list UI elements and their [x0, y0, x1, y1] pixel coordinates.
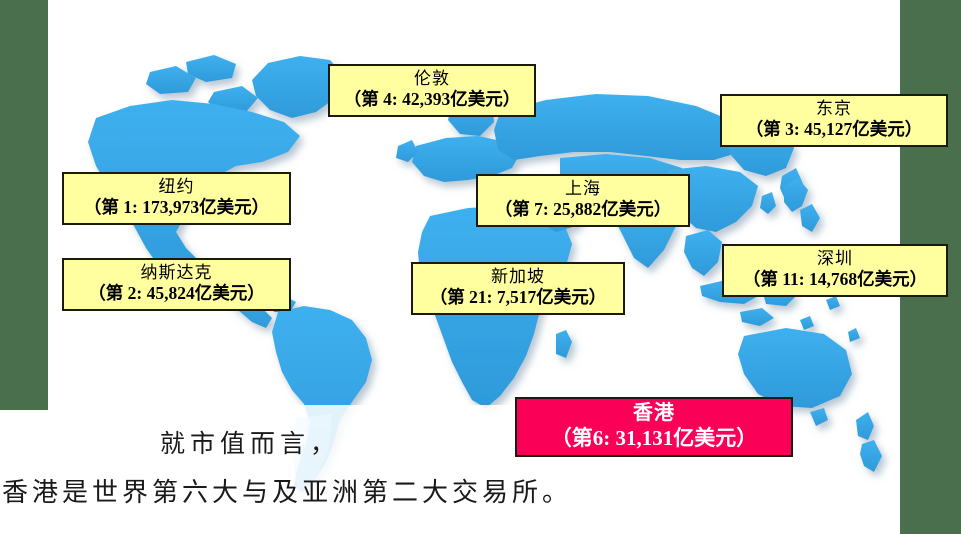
callout-shenzhen[interactable]: 深圳 （第 11: 14,768亿美元） — [722, 244, 948, 297]
callout-singapore-value: （第 21: 7,517亿美元） — [423, 287, 613, 308]
callout-tokyo-value: （第 3: 45,127亿美元） — [732, 119, 936, 140]
callout-shanghai-value: （第 7: 25,882亿美元） — [488, 199, 678, 220]
callout-tokyo-city: 东京 — [732, 99, 936, 119]
callout-shanghai-city: 上海 — [488, 179, 678, 199]
callout-nasdaq-value: （第 2: 45,824亿美元） — [74, 283, 279, 304]
callout-london-value: （第 4: 42,393亿美元） — [340, 89, 524, 110]
callout-shenzhen-value: （第 11: 14,768亿美元） — [734, 269, 936, 290]
callout-nasdaq[interactable]: 纳斯达克 （第 2: 45,824亿美元） — [62, 258, 291, 311]
slide-canvas: 伦敦 （第 4: 42,393亿美元） 东京 （第 3: 45,127亿美元） … — [0, 0, 961, 534]
callout-singapore-city: 新加坡 — [423, 267, 613, 287]
callout-new-york[interactable]: 纽约 （第 1: 173,973亿美元） — [62, 172, 291, 225]
callout-london[interactable]: 伦敦 （第 4: 42,393亿美元） — [328, 64, 536, 117]
callout-nasdaq-city: 纳斯达克 — [74, 263, 279, 283]
callout-hong-kong[interactable]: 香港 （第6: 31,131亿美元） — [515, 397, 793, 457]
callout-hong-kong-city: 香港 — [527, 402, 781, 426]
callout-new-york-value: （第 1: 173,973亿美元） — [74, 197, 279, 218]
callout-new-york-city: 纽约 — [74, 177, 279, 197]
caption-line-1: 就市值而言， — [160, 424, 340, 460]
caption-line-2: 香港是世界第六大与及亚洲第二大交易所。 — [2, 472, 572, 509]
callout-shanghai[interactable]: 上海 （第 7: 25,882亿美元） — [476, 174, 690, 227]
callout-singapore[interactable]: 新加坡 （第 21: 7,517亿美元） — [411, 262, 625, 315]
callout-shenzhen-city: 深圳 — [734, 249, 936, 269]
left-green-band — [0, 0, 48, 410]
callout-tokyo[interactable]: 东京 （第 3: 45,127亿美元） — [720, 94, 948, 147]
callout-london-city: 伦敦 — [340, 69, 524, 89]
callout-hong-kong-value: （第6: 31,131亿美元） — [527, 426, 781, 451]
